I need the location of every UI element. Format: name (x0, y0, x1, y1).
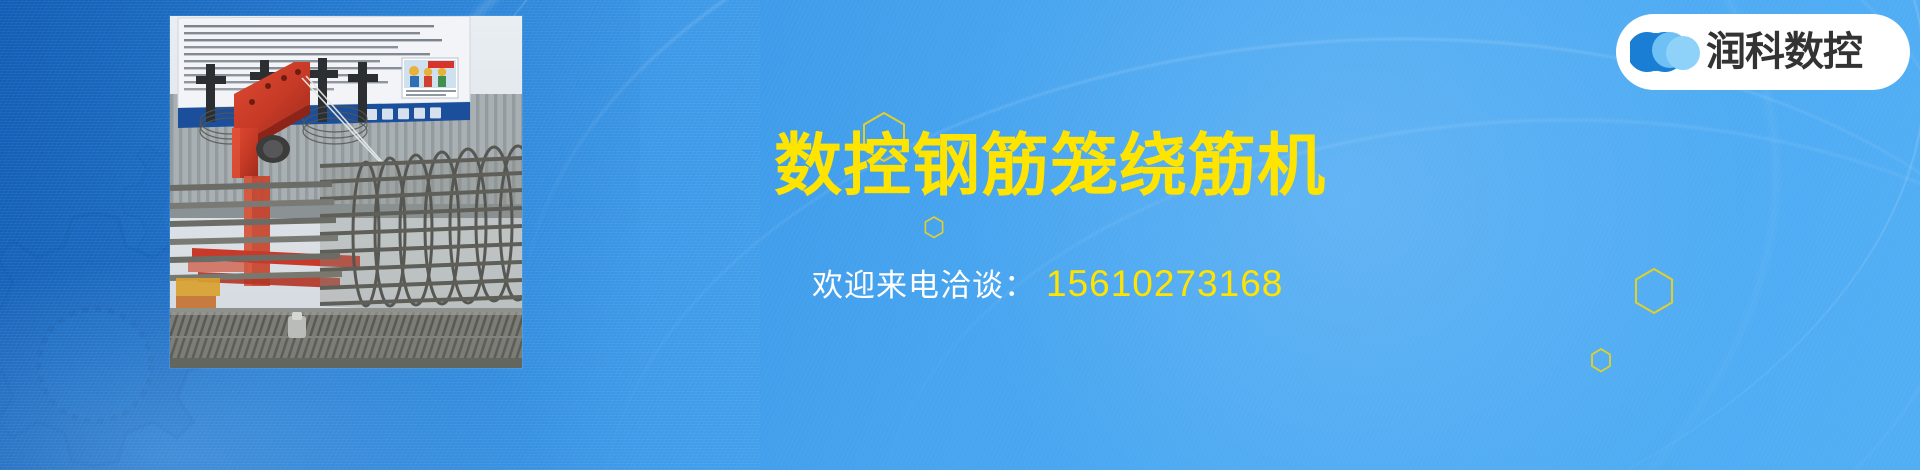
hexagon-small-right (1590, 348, 1612, 373)
brand-logo[interactable]: 润科数控 (1616, 14, 1910, 90)
contact-line: 欢迎来电洽谈： 15610273168 (812, 260, 1283, 305)
hexagon-large-right (1634, 268, 1674, 314)
promo-banner: 数控钢筋笼绕筋机 欢迎来电洽谈： 15610273168 润科数控 (0, 0, 1920, 470)
cloud-circles-icon (1630, 26, 1702, 78)
product-photo-image (170, 16, 522, 368)
contact-lead-label: 欢迎来电洽谈： (812, 260, 1036, 305)
product-photo (170, 16, 522, 368)
contact-phone-number[interactable]: 15610273168 (1046, 263, 1283, 305)
page-title: 数控钢筋笼绕筋机 (774, 133, 1326, 201)
brand-name: 润科数控 (1706, 32, 1862, 72)
hexagon-small-left (924, 216, 944, 239)
